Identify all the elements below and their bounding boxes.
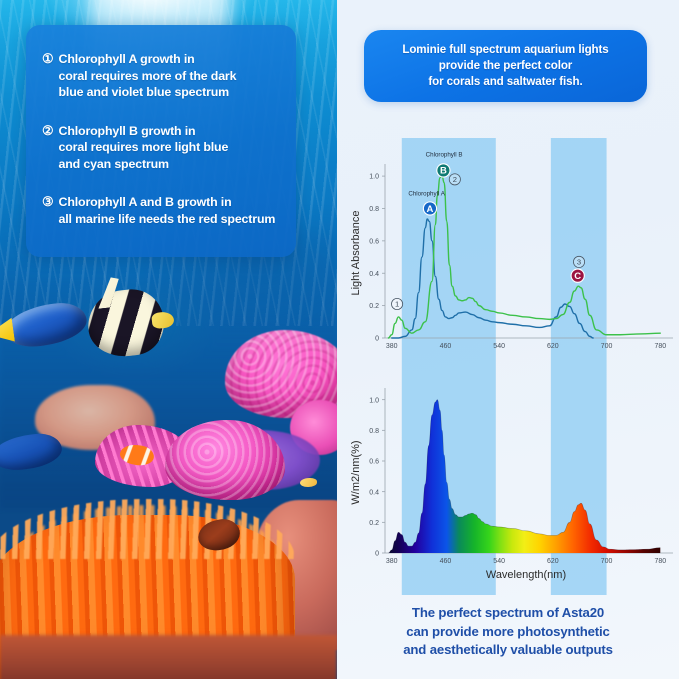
x-tick-label: 380 xyxy=(386,558,398,565)
footer-caption: The perfect spectrum of Asta20 can provi… xyxy=(337,604,679,660)
x-tick-label: 540 xyxy=(493,343,505,350)
curve-annotation-label: Chlorophyll B xyxy=(426,152,463,159)
info-marker-3: ③ xyxy=(42,194,54,227)
headline-banner: Lominie full spectrum aquarium lights pr… xyxy=(364,30,647,102)
x-tick-label: 620 xyxy=(547,343,559,350)
footer-line: can provide more photosynthetic xyxy=(337,623,679,642)
y-tick-label: 0.8 xyxy=(369,428,379,435)
small-yellow-fish xyxy=(300,478,317,487)
foreground-rock xyxy=(0,635,337,679)
info-line: coral requires more light blue xyxy=(59,139,280,156)
y-tick-label: 1.0 xyxy=(369,397,379,404)
x-tick-label: 460 xyxy=(440,343,452,350)
absorbance-chart-svg: 00.20.40.60.81.0380460540620700780Light … xyxy=(337,138,679,370)
annotation-number-text: 2 xyxy=(453,175,457,184)
highlight-band-red-band xyxy=(551,138,607,370)
left-image-panel: ① Chlorophyll A growth in coral requires… xyxy=(0,0,337,679)
spectral-output-chart-svg: 00.20.40.60.81.0380460540620700780W/m2/n… xyxy=(337,370,679,595)
info-line: Chlorophyll A growth in xyxy=(59,51,280,68)
info-line: all marine life needs the red spectrum xyxy=(59,211,280,228)
info-item-2: ② Chlorophyll B growth in coral requires… xyxy=(42,123,280,173)
y-tick-label: 0.6 xyxy=(369,238,379,245)
x-tick-label: 460 xyxy=(440,558,452,565)
info-item-1: ① Chlorophyll A growth in coral requires… xyxy=(42,51,280,101)
annotation-badge-letter: B xyxy=(440,166,447,177)
y-tick-label: 0 xyxy=(375,336,379,343)
y-axis-title: Light Absorbance xyxy=(350,210,362,295)
highlight-band-red-band xyxy=(551,370,607,595)
x-tick-label: 620 xyxy=(547,558,559,565)
spectral-output-chart: 00.20.40.60.81.0380460540620700780W/m2/n… xyxy=(337,370,679,595)
moorish-idol-fish xyxy=(85,286,167,360)
info-line: Chlorophyll B growth in xyxy=(59,123,280,140)
headline-line: Lominie full spectrum aquarium lights xyxy=(402,42,608,58)
infographic-page: ① Chlorophyll A growth in coral requires… xyxy=(0,0,679,679)
headline-line: for corals and saltwater fish. xyxy=(402,74,608,90)
y-tick-label: 0.4 xyxy=(369,271,379,278)
annotation-number-text: 3 xyxy=(577,258,581,267)
x-tick-label: 380 xyxy=(386,343,398,350)
curve-annotation-label: Chlorophyll A xyxy=(408,191,445,198)
info-line: and cyan spectrum xyxy=(59,156,280,173)
y-tick-label: 0.2 xyxy=(369,520,379,527)
y-tick-label: 0 xyxy=(375,551,379,558)
x-tick-label: 780 xyxy=(654,558,666,565)
info-line: Chlorophyll A and B growth in xyxy=(59,194,280,211)
info-line: coral requires more of the dark xyxy=(59,68,280,85)
y-tick-label: 0.2 xyxy=(369,303,379,310)
x-tick-label: 540 xyxy=(493,558,505,565)
y-tick-label: 0.6 xyxy=(369,459,379,466)
y-axis-title: W/m2/nm(%) xyxy=(350,440,362,504)
footer-line: The perfect spectrum of Asta20 xyxy=(337,604,679,623)
annotation-badge-letter: A xyxy=(427,204,434,215)
y-tick-label: 0.8 xyxy=(369,206,379,213)
info-marker-2: ② xyxy=(42,123,54,173)
x-tick-label: 780 xyxy=(654,343,666,350)
headline-line: provide the perfect color xyxy=(402,58,608,74)
right-chart-panel: Lominie full spectrum aquarium lights pr… xyxy=(337,0,679,679)
info-line: blue and violet blue spectrum xyxy=(59,84,280,101)
y-tick-label: 0.4 xyxy=(369,489,379,496)
info-text-3: Chlorophyll A and B growth in all marine… xyxy=(59,194,280,227)
y-tick-label: 1.0 xyxy=(369,174,379,181)
annotation-badge-letter: C xyxy=(574,271,581,282)
headline-text: Lominie full spectrum aquarium lights pr… xyxy=(402,42,608,90)
x-tick-label: 700 xyxy=(601,343,613,350)
chlorophyll-info-card: ① Chlorophyll A growth in coral requires… xyxy=(26,25,296,257)
info-text-1: Chlorophyll A growth in coral requires m… xyxy=(59,51,280,101)
x-axis-title: Wavelength(nm) xyxy=(486,569,566,581)
info-item-3: ③ Chlorophyll A and B growth in all mari… xyxy=(42,194,280,227)
info-marker-1: ① xyxy=(42,51,54,101)
footer-line: and aesthetically valuable outputs xyxy=(337,641,679,660)
info-text-2: Chlorophyll B growth in coral requires m… xyxy=(59,123,280,173)
absorbance-chart: 00.20.40.60.81.0380460540620700780Light … xyxy=(337,138,679,370)
x-tick-label: 700 xyxy=(601,558,613,565)
annotation-number-text: 1 xyxy=(395,300,399,309)
